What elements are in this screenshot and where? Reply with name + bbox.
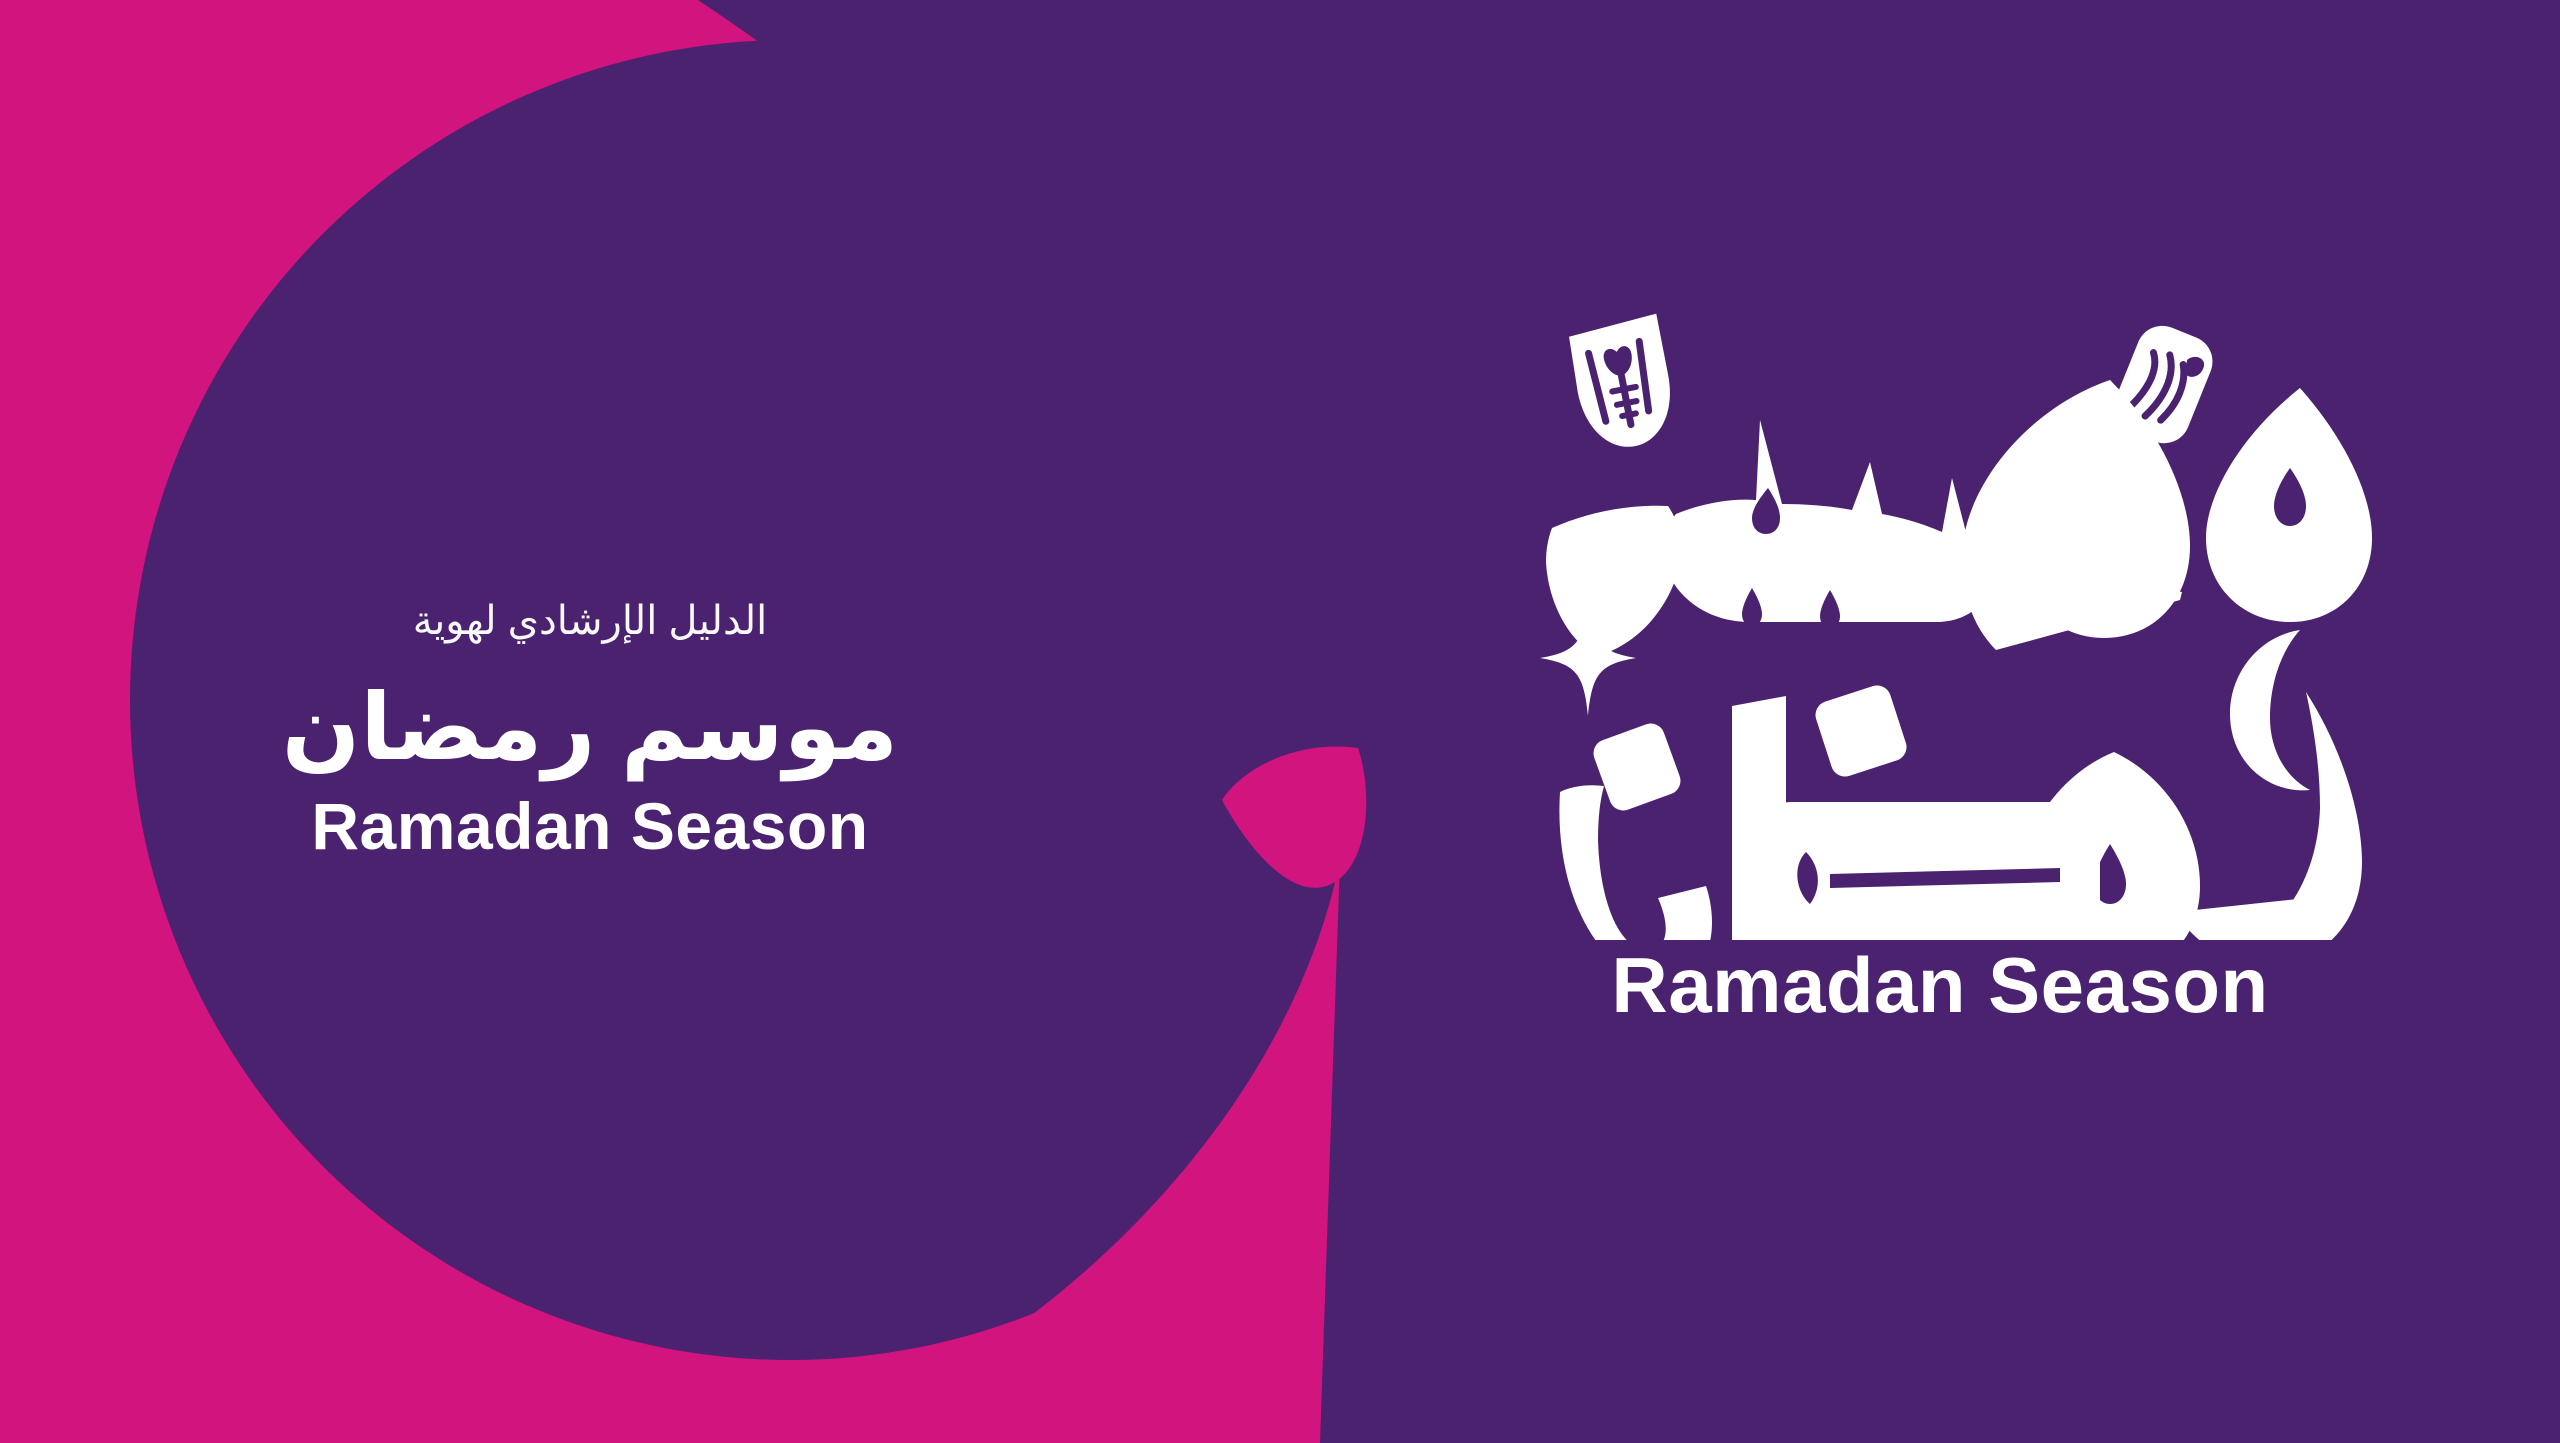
shield-tulip-badge-icon (1566, 314, 1680, 455)
wordmark-line-mawsim (1546, 380, 2372, 656)
page-title-english: Ramadan Season (210, 792, 970, 861)
logo-wordmark-english: Ramadan Season (1500, 946, 2380, 1024)
page-title-arabic: موسم رمضان (210, 682, 970, 776)
guide-kicker: الدليل الإرشادي لهوية (210, 594, 970, 648)
brand-cover-canvas: الدليل الإرشادي لهوية موسم رمضان Ramadan… (0, 0, 2560, 1443)
crescent-moon-icon (2230, 630, 2310, 790)
ramadan-season-logo-lockup: Ramadan Season (1500, 300, 2400, 1120)
logo-wordmark-arabic (1500, 300, 2380, 940)
